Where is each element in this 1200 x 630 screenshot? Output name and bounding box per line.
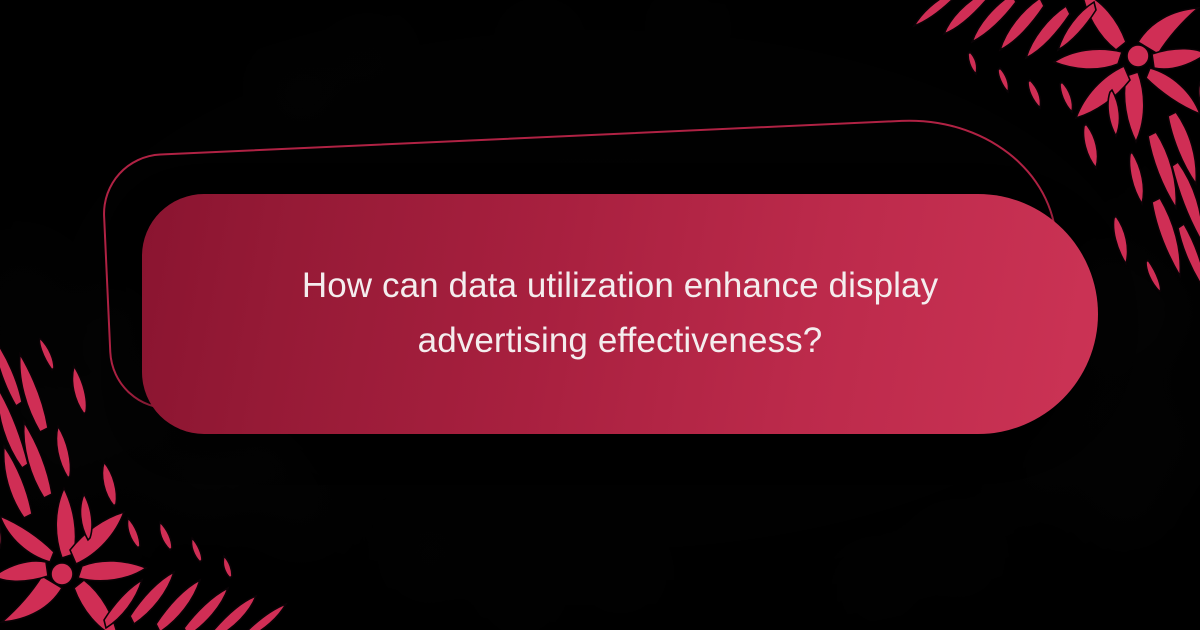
bokeh-blob <box>520 24 560 64</box>
question-card: How can data utilization enhance display… <box>142 194 1098 434</box>
question-title: How can data utilization enhance display… <box>230 258 1010 371</box>
bokeh-blob <box>672 12 704 44</box>
bokeh-blob <box>858 570 902 614</box>
bokeh-blob <box>0 254 64 346</box>
poster-canvas: How can data utilization enhance display… <box>0 0 1200 630</box>
bokeh-blob <box>278 70 322 114</box>
bokeh-blob <box>1094 466 1162 534</box>
bokeh-blob <box>406 532 454 580</box>
bokeh-blob <box>1140 414 1200 474</box>
bokeh-blob <box>932 532 988 588</box>
bokeh-blob <box>350 42 386 78</box>
bokeh-blob <box>500 576 540 616</box>
bokeh-blob <box>602 554 638 590</box>
bokeh-blob <box>1020 444 1072 496</box>
